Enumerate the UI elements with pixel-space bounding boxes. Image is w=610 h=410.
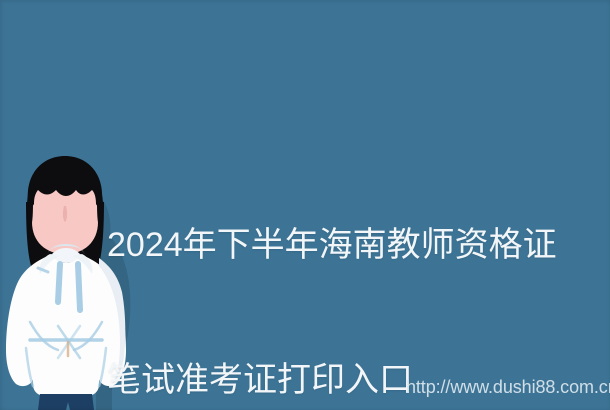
- pants: [38, 394, 94, 410]
- site-url-watermark: http://www.dushi88.com.cn: [406, 377, 610, 398]
- page-title-line-1: 2024年下半年海南教师资格证: [107, 223, 577, 268]
- page-title: 2024年下半年海南教师资格证 笔试准考证打印入口: [107, 133, 577, 410]
- promo-banner: 2024年下半年海南教师资格证 笔试准考证打印入口 http://www.dus…: [0, 0, 610, 410]
